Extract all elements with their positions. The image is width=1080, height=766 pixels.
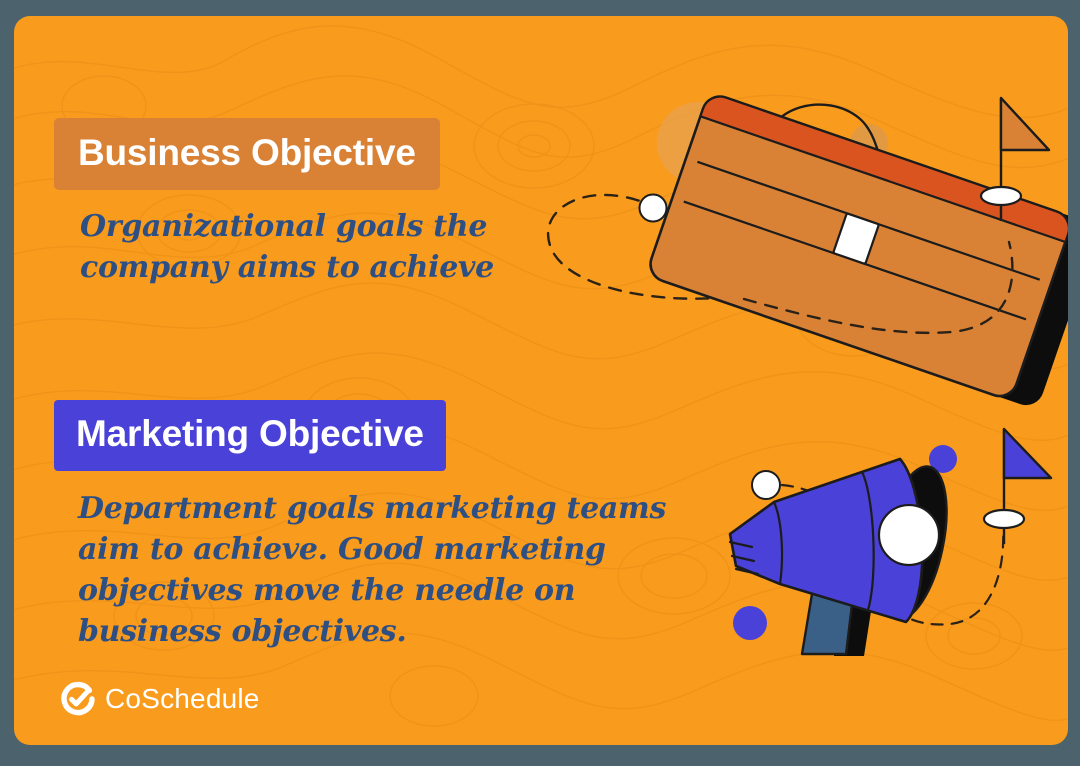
badge-business-objective: Business Objective [54,118,440,190]
body-text-marketing-objective: Department goals marketing teams aim to … [78,488,718,652]
screenshot-root: Business Objective Organizational goals … [0,0,1080,766]
content-column: Business Objective Organizational goals … [14,16,734,745]
flag-banner [1004,429,1051,478]
flag-marker [981,98,1049,221]
body-text-business-objective: Organizational goals the company aims to… [80,206,510,288]
badge-marketing-objective: Marketing Objective [54,400,446,471]
flag-hole [981,187,1021,205]
sound-ball [879,505,939,565]
coschedule-logo: CoSchedule [62,683,260,715]
decor-circle [733,606,767,640]
flag-hole [984,510,1024,528]
flag-banner [1001,98,1049,150]
graphic-card: Business Objective Organizational goals … [14,16,1068,745]
circle-check-icon [62,683,94,715]
flag-marker [984,429,1051,544]
coschedule-wordmark: CoSchedule [105,683,260,715]
megaphone-illustration [714,416,1068,681]
accent-circle [752,471,780,499]
